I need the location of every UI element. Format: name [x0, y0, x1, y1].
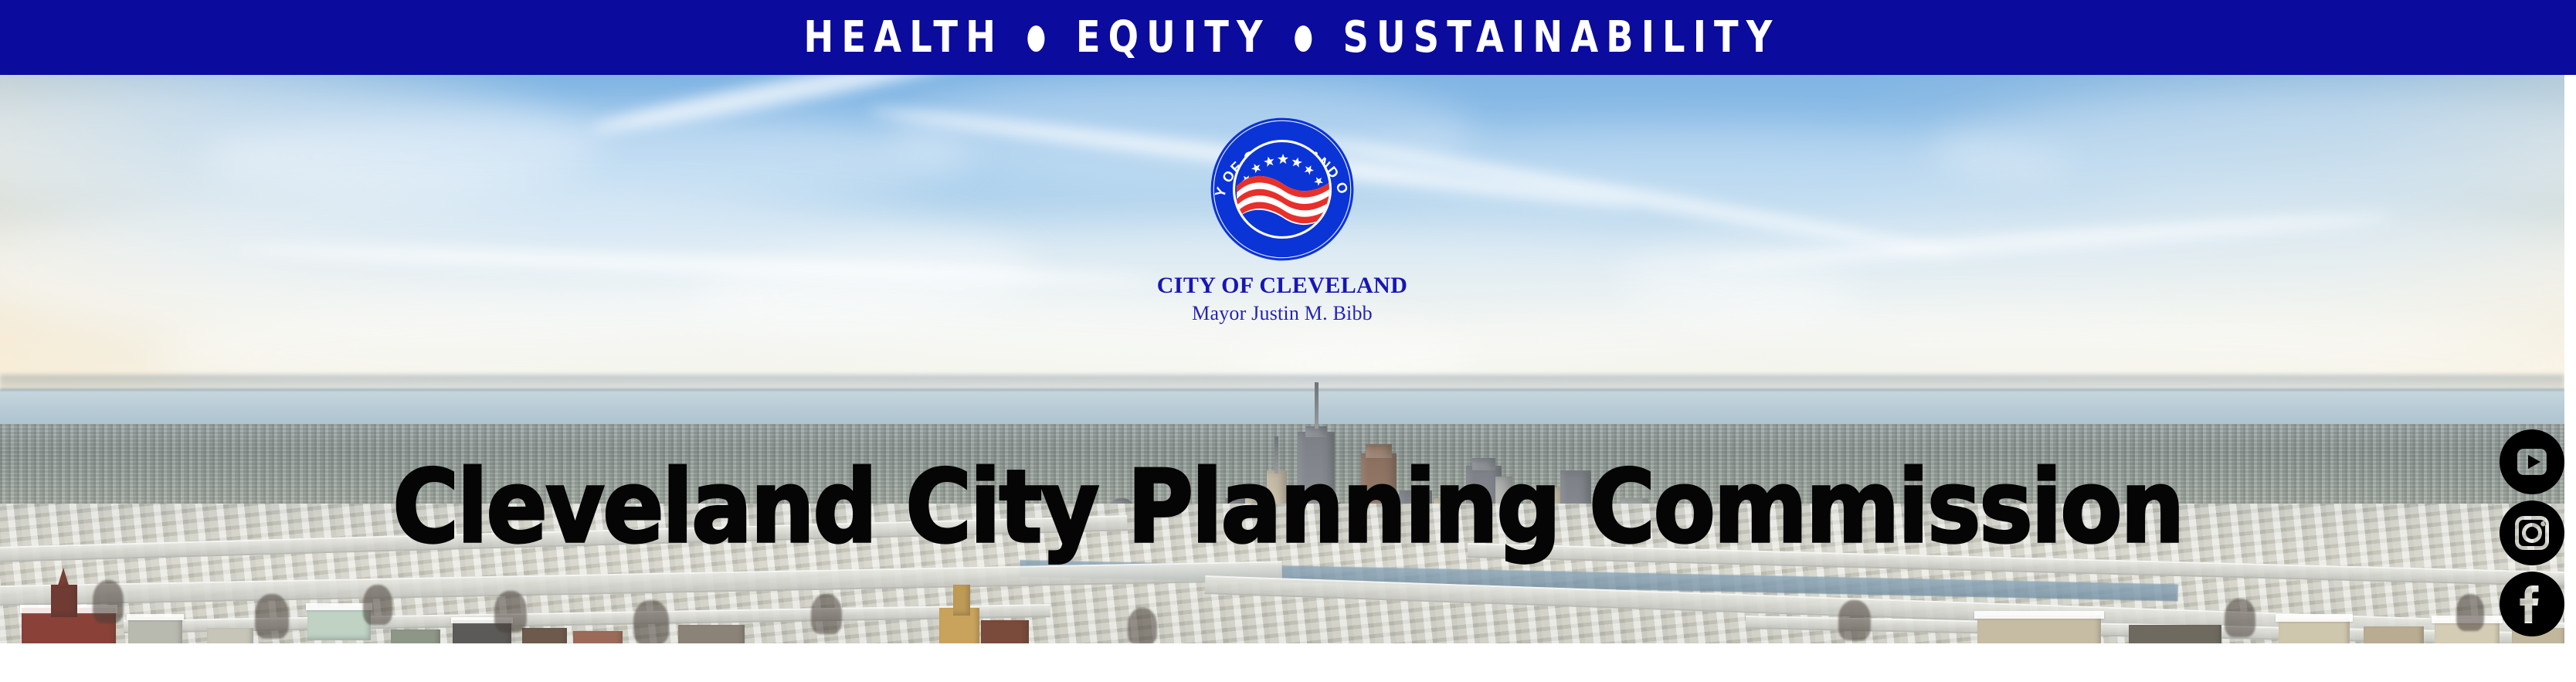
bottom-white-strip — [0, 643, 2576, 682]
tagline-text: HEALTH EQUITY SUSTAINABILITY — [796, 16, 1780, 59]
tagline-word-equity: EQUITY — [1076, 16, 1271, 59]
social-media-links — [2500, 429, 2564, 636]
tagline-word-health: HEALTH — [804, 16, 1003, 59]
youtube-icon[interactable] — [2500, 429, 2564, 494]
page-root: HEALTH EQUITY SUSTAINABILITY — [0, 0, 2576, 682]
right-white-strip — [2564, 75, 2576, 682]
tagline-separator-dot-1 — [1027, 25, 1044, 52]
tagline-banner: HEALTH EQUITY SUSTAINABILITY — [0, 0, 2576, 75]
city-of-cleveland-seal-icon: CITY OF CLEVELAND OHIO — [1201, 108, 1363, 270]
city-name-label: CITY OF CLEVELAND — [1124, 273, 1441, 298]
city-branding-lockup: CITY OF CLEVELAND OHIO — [1124, 108, 1441, 324]
tagline-separator-dot-2 — [1295, 25, 1312, 52]
instagram-icon[interactable] — [2500, 500, 2564, 565]
tagline-word-sustainability: SUSTAINABILITY — [1343, 16, 1780, 59]
facebook-icon[interactable] — [2500, 572, 2564, 636]
mayor-name-label: Mayor Justin M. Bibb — [1124, 303, 1441, 324]
